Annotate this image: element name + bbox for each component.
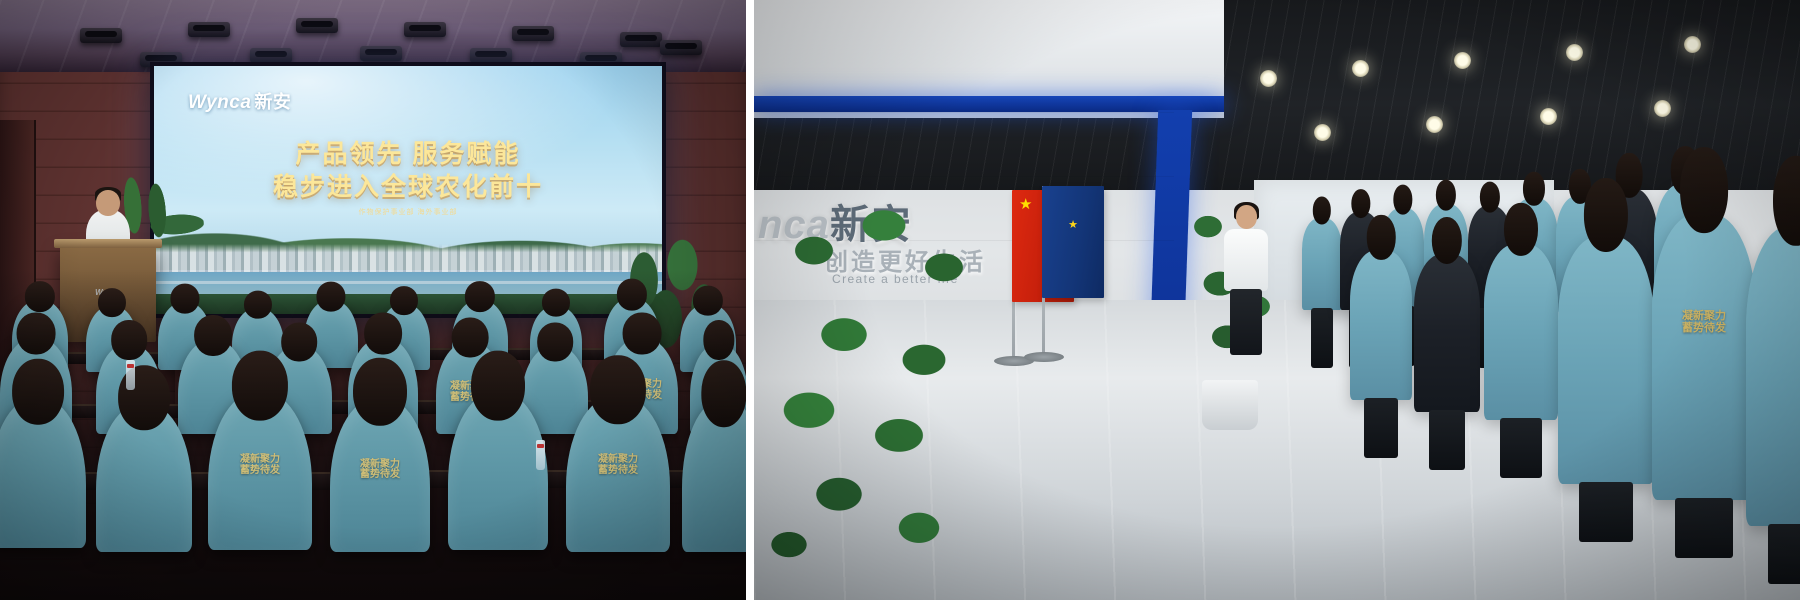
audience-head — [111, 320, 147, 360]
shirt-slogan-line1: 凝新聚力 — [1682, 311, 1726, 323]
ceiling-downlight — [1454, 52, 1471, 69]
ceiling-downlight — [1352, 60, 1369, 77]
audience-head — [693, 286, 723, 316]
blue-accent-light-soffit — [754, 96, 1224, 112]
employee-legs — [1579, 482, 1633, 542]
employee-head — [1432, 217, 1462, 264]
audience-member-front: 凝新聚力 蓄势待发 — [330, 398, 430, 552]
ceiling-spotlight — [360, 46, 402, 61]
employee-foreground — [1558, 236, 1654, 484]
audience-head — [12, 359, 64, 425]
employee-head — [1436, 180, 1456, 211]
large-foliage-plant — [754, 175, 1004, 595]
audience-head — [244, 291, 272, 319]
audience-member-front: 凝新聚力 蓄势待发 — [566, 396, 670, 552]
audience-member-front — [448, 392, 548, 550]
employee-legs — [1429, 410, 1466, 470]
audience-head — [452, 318, 489, 358]
water-bottle — [126, 360, 135, 390]
audience-head — [537, 323, 573, 362]
audience-head — [281, 323, 317, 362]
host-torso — [1224, 229, 1268, 291]
shirt-slogan-line1: 凝新聚力 — [598, 455, 638, 466]
slide-brand-latin: Wynca — [188, 92, 251, 113]
audience-head — [623, 313, 662, 355]
audience-head — [364, 313, 402, 355]
audience-head — [232, 351, 288, 421]
shirt-slogan-line2: 蓄势待发 — [1682, 323, 1726, 335]
flag-base — [1024, 352, 1064, 362]
ceiling-spotlight — [296, 18, 338, 33]
ceiling-downlight — [1654, 100, 1671, 117]
audience-head — [194, 315, 232, 356]
employee-head — [1393, 185, 1412, 215]
employee-legs — [1768, 524, 1800, 584]
ceiling-spotlight — [512, 26, 554, 41]
host-legs — [1230, 289, 1262, 355]
employee — [1484, 244, 1558, 420]
employee-legs — [1500, 418, 1541, 478]
employee-head — [1480, 182, 1500, 213]
ceiling-downlight — [1260, 70, 1277, 87]
audience-member-front: 凝新聚力 蓄势待发 — [208, 392, 312, 550]
audience-head — [542, 289, 570, 317]
ceiling-spotlight — [80, 28, 122, 43]
audience-head — [390, 286, 418, 315]
shirt-slogan: 凝新聚力 蓄势待发 — [240, 455, 280, 476]
slide-subtitle: 作物保护事业部 海外事业部 — [154, 207, 662, 217]
ceiling-downlight — [1314, 124, 1331, 141]
employee-head — [1313, 196, 1331, 224]
audience-head — [170, 284, 199, 314]
slide-headline-line1: 产品领先 服务赋能 — [154, 138, 662, 171]
speaker-head — [96, 190, 120, 216]
slide-brand-logo: Wynca新安 — [188, 88, 291, 114]
shirt-slogan-line2: 蓄势待发 — [598, 466, 638, 477]
ceiling-spotlight — [620, 32, 662, 47]
audience-member-front — [96, 404, 192, 552]
slide-headline: 产品领先 服务赋能 稳步进入全球农化前十 — [154, 138, 662, 204]
audience-head — [465, 281, 495, 312]
panel-divider — [746, 0, 754, 600]
eu-flag — [1042, 186, 1104, 298]
audience-head — [471, 351, 525, 421]
shirt-slogan: 凝新聚力 蓄势待发 — [598, 455, 638, 476]
audience-head — [703, 320, 734, 360]
ceiling-spotlight — [250, 48, 292, 63]
host-head — [1236, 205, 1257, 229]
ceiling-downlight — [1684, 36, 1701, 53]
screenshot-root: Wynca新安 产品领先 服务赋能 稳步进入全球农化前十 作物保护事业部 海外事… — [0, 0, 1800, 600]
ceiling-downlight — [1566, 44, 1583, 61]
employee-head — [1504, 203, 1538, 256]
employee-legs — [1675, 498, 1733, 558]
shirt-slogan: 凝新聚力 蓄势待发 — [1682, 311, 1726, 334]
audience-head — [17, 313, 56, 355]
ceiling-spotlight — [188, 22, 230, 37]
audience-head — [353, 358, 407, 426]
left-panel-auditorium: Wynca新安 产品领先 服务赋能 稳步进入全球农化前十 作物保护事业部 海外事… — [0, 0, 746, 600]
shirt-slogan-line2: 蓄势待发 — [360, 470, 400, 481]
employee-head — [1584, 178, 1628, 252]
audience-head — [98, 288, 126, 317]
audience-head — [701, 360, 746, 427]
water-bottle — [536, 440, 545, 470]
ceiling-spotlight — [470, 48, 512, 63]
employee — [1414, 254, 1480, 412]
employee-head — [1367, 215, 1396, 260]
employee-legs — [1311, 308, 1333, 368]
employee-head — [1680, 147, 1728, 233]
lobby-host-presenter — [1224, 205, 1268, 355]
shirt-slogan-line1: 凝新聚力 — [240, 455, 280, 466]
ceiling-spotlight — [404, 22, 446, 37]
employee-head — [1523, 172, 1545, 206]
ceiling-spotlight — [660, 40, 702, 55]
employee-legs — [1364, 398, 1399, 458]
slide-brand-cn: 新安 — [254, 92, 291, 112]
audience-head — [590, 355, 646, 424]
shirt-slogan: 凝新聚力 蓄势待发 — [360, 460, 400, 481]
slide-headline-line2: 稳步进入全球农化前十 — [154, 171, 662, 204]
ceiling-downlight — [1540, 108, 1557, 125]
audience-head — [617, 279, 647, 311]
audience-head — [316, 282, 345, 312]
employee-head — [1351, 189, 1370, 218]
employee-foreground: 凝新聚力 蓄势待发 — [1652, 214, 1756, 500]
ceiling-downlight — [1426, 116, 1443, 133]
audience-head — [25, 281, 55, 312]
shirt-slogan-line1: 凝新聚力 — [360, 460, 400, 471]
plant-pot — [1202, 380, 1258, 430]
employee-foreground — [1746, 226, 1800, 526]
shirt-slogan-line2: 蓄势待发 — [240, 466, 280, 477]
right-panel-lobby: nca新安 创造更好生活 Create a better life — [754, 0, 1800, 600]
employee — [1350, 250, 1412, 400]
employee — [1302, 218, 1342, 310]
